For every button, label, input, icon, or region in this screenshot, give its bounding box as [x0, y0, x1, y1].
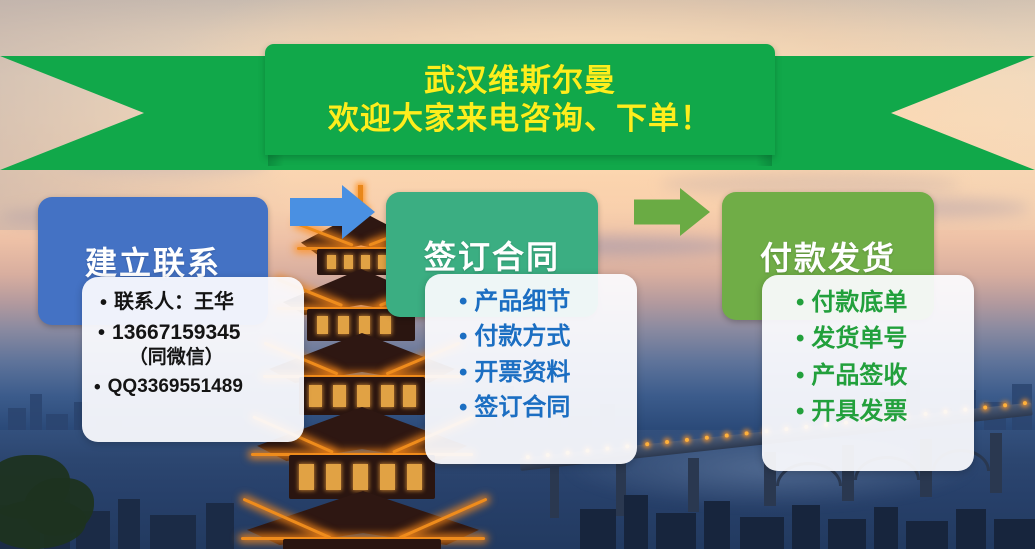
list-item: • 付款方式: [437, 323, 625, 351]
ribbon-left-tail: [0, 56, 300, 170]
step-1-card: • 联系人：王华 • 13667159345 （同微信） • QQ3369551…: [82, 277, 304, 442]
bullet-icon: •: [459, 325, 467, 349]
list-item: • 开票资料: [437, 359, 625, 387]
list-item: • 产品签收: [774, 362, 962, 390]
arrow-shaft: [634, 200, 684, 225]
arrow-head: [680, 188, 710, 236]
step-3-header-label: 付款发货: [760, 233, 896, 279]
bullet-icon: •: [796, 327, 804, 351]
banner-title: 武汉维斯尔曼 欢迎大家来电咨询、下单！: [265, 44, 775, 155]
ribbon-right-tail: [735, 56, 1035, 170]
list-item: • 联系人：王华: [94, 291, 292, 315]
step-3-item-2-text: 产品签收: [811, 362, 907, 390]
bullet-icon: •: [100, 293, 107, 313]
banner-title-line-2: 欢迎大家来电咨询、下单！: [328, 102, 712, 136]
list-item: • 开具发票: [774, 398, 962, 426]
bullet-icon: •: [459, 396, 467, 420]
near-shore-buildings: [0, 470, 1035, 549]
bullet-icon: •: [459, 290, 467, 314]
list-item: • 签订合同: [437, 394, 625, 422]
title-ribbon: 武汉维斯尔曼 欢迎大家来电咨询、下单！: [0, 56, 1035, 170]
bullet-icon: •: [98, 323, 105, 343]
step-2-card: • 产品细节 • 付款方式 • 开票资料 • 签订合同: [425, 274, 637, 464]
step-2-bullet-list: • 产品细节 • 付款方式 • 开票资料 • 签订合同: [437, 288, 625, 422]
step-2-item-2-text: 开票资料: [474, 359, 570, 387]
step-2-item-1-text: 付款方式: [474, 323, 570, 351]
step-3-bullet-list: • 付款底单 • 发货单号 • 产品签收 • 开具发票: [774, 289, 962, 426]
step-1-item-1-wrap: 13667159345 （同微信）: [112, 321, 240, 370]
bullet-icon: •: [94, 378, 101, 397]
list-item: • 13667159345 （同微信）: [94, 321, 292, 370]
step-3-item-0-text: 付款底单: [811, 289, 907, 317]
banner-title-line-1: 武汉维斯尔曼: [424, 64, 616, 98]
step-3-item-3-text: 开具发票: [811, 398, 907, 426]
poster-canvas: 武汉维斯尔曼 欢迎大家来电咨询、下单！ 建立联系 • 联系人：王华 • 1366…: [0, 0, 1035, 549]
bullet-icon: •: [796, 291, 804, 315]
step-2-item-0-text: 产品细节: [474, 288, 570, 316]
list-item: • QQ3369551489: [94, 376, 292, 398]
step-1-item-1-text: 13667159345: [112, 321, 240, 346]
bullet-icon: •: [796, 364, 804, 388]
step-2-item-3-text: 签订合同: [474, 394, 570, 422]
step-1-bullet-list: • 联系人：王华 • 13667159345 （同微信） • QQ3369551…: [94, 291, 292, 398]
step-1-item-2-text: QQ3369551489: [108, 376, 243, 398]
step-3-card: • 付款底单 • 发货单号 • 产品签收 • 开具发票: [762, 275, 974, 471]
step-1-item-1-sub: （同微信）: [112, 347, 240, 369]
bullet-icon: •: [459, 361, 467, 385]
step-1-item-0-text: 联系人：王华: [114, 291, 234, 315]
step-3-item-1-text: 发货单号: [811, 325, 907, 353]
list-item: • 付款底单: [774, 289, 962, 317]
step-2-header-label: 签订合同: [424, 232, 560, 278]
arrow-head: [342, 185, 375, 239]
bullet-icon: •: [796, 400, 804, 424]
arrow-shaft: [290, 198, 346, 226]
list-item: • 发货单号: [774, 325, 962, 353]
list-item: • 产品细节: [437, 288, 625, 316]
